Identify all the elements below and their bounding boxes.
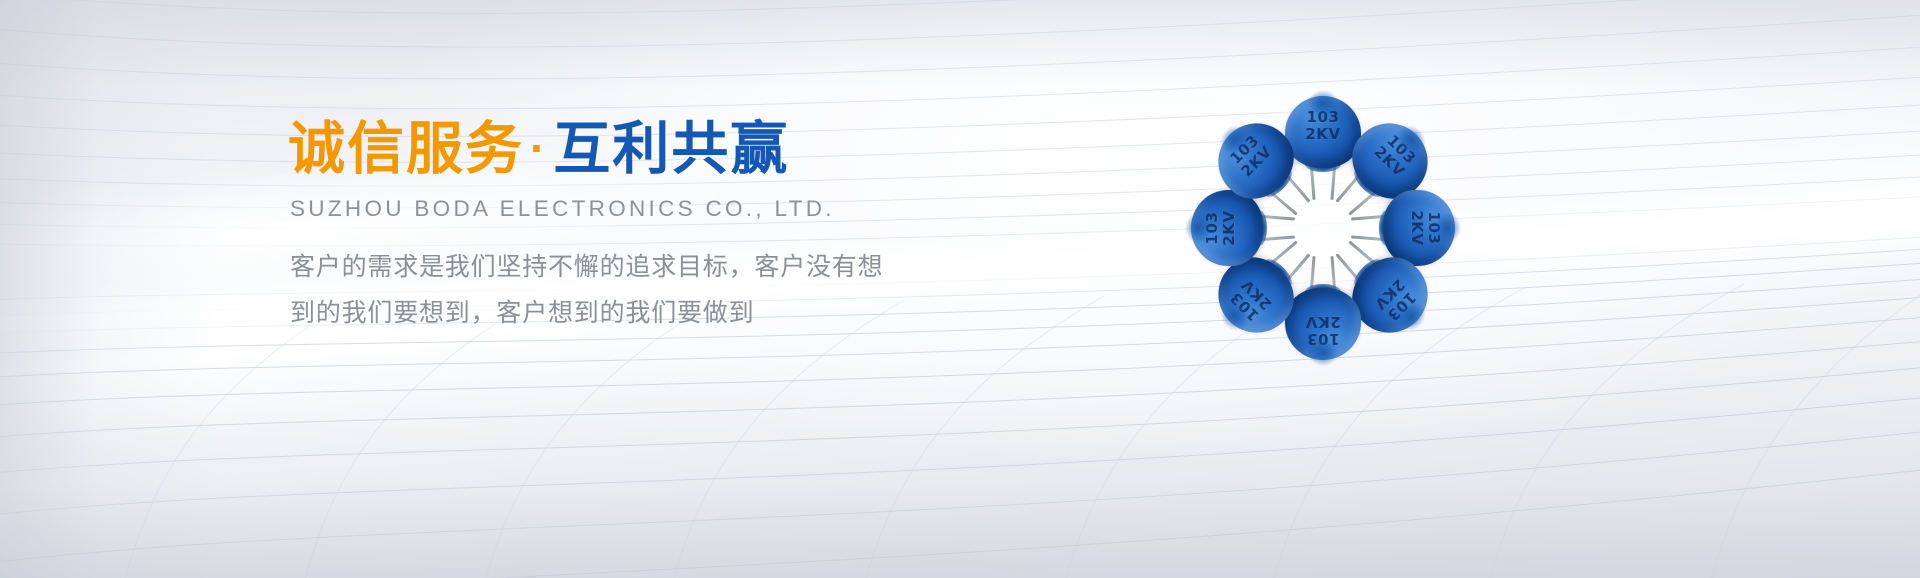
headline-separator-dot: · [524, 122, 553, 174]
background-vignette-bottom [0, 408, 1920, 578]
capacitor-marking-line1: 103 [1285, 109, 1361, 126]
capacitor-marking-line2: 2KV [1408, 190, 1425, 266]
capacitor-ring-arrangement: 103 2KV 103 2KV [1153, 58, 1493, 398]
capacitor-marking: 103 2KV [1204, 190, 1238, 266]
banner-text-block: 诚信服务·互利共赢 SUZHOU BODA ELECTRONICS CO., L… [288, 118, 968, 336]
headline-part-primary: 诚信服务 [288, 117, 524, 181]
capacitor-marking-line2: 2KV [1221, 190, 1238, 266]
capacitor-marking: 103 2KV [1356, 261, 1434, 339]
description-line-2: 到的我们要想到，客户想到的我们要做到 [290, 290, 914, 336]
banner-description: 客户的需求是我们坚持不懈的追求目标，客户没有想 到的我们要想到，客户想到的我们要… [290, 244, 914, 336]
banner-subtitle-english: SUZHOU BODA ELECTRONICS CO., LTD. [290, 196, 968, 222]
capacitor-marking-line1: 103 [1285, 330, 1361, 347]
capacitor-marking-line2: 2KV [1285, 313, 1361, 330]
capacitor-marking-line1: 103 [1204, 190, 1221, 266]
capacitor-marking: 103 2KV [1408, 190, 1442, 266]
description-line-1: 客户的需求是我们坚持不懈的追求目标，客户没有想 [290, 244, 914, 290]
capacitor-marking: 103 2KV [1285, 109, 1361, 143]
capacitor-marking-line1: 103 [1425, 190, 1442, 266]
headline-part-secondary: 互利共赢 [553, 117, 789, 181]
capacitor-marking-line2: 2KV [1285, 126, 1361, 143]
banner-headline: 诚信服务·互利共赢 [288, 118, 968, 182]
hero-banner: 诚信服务·互利共赢 SUZHOU BODA ELECTRONICS CO., L… [0, 0, 1920, 578]
capacitor-marking: 103 2KV [1285, 313, 1361, 347]
capacitor-marking: 103 2KV [1212, 117, 1290, 195]
background-vignette-top [0, 0, 1920, 90]
